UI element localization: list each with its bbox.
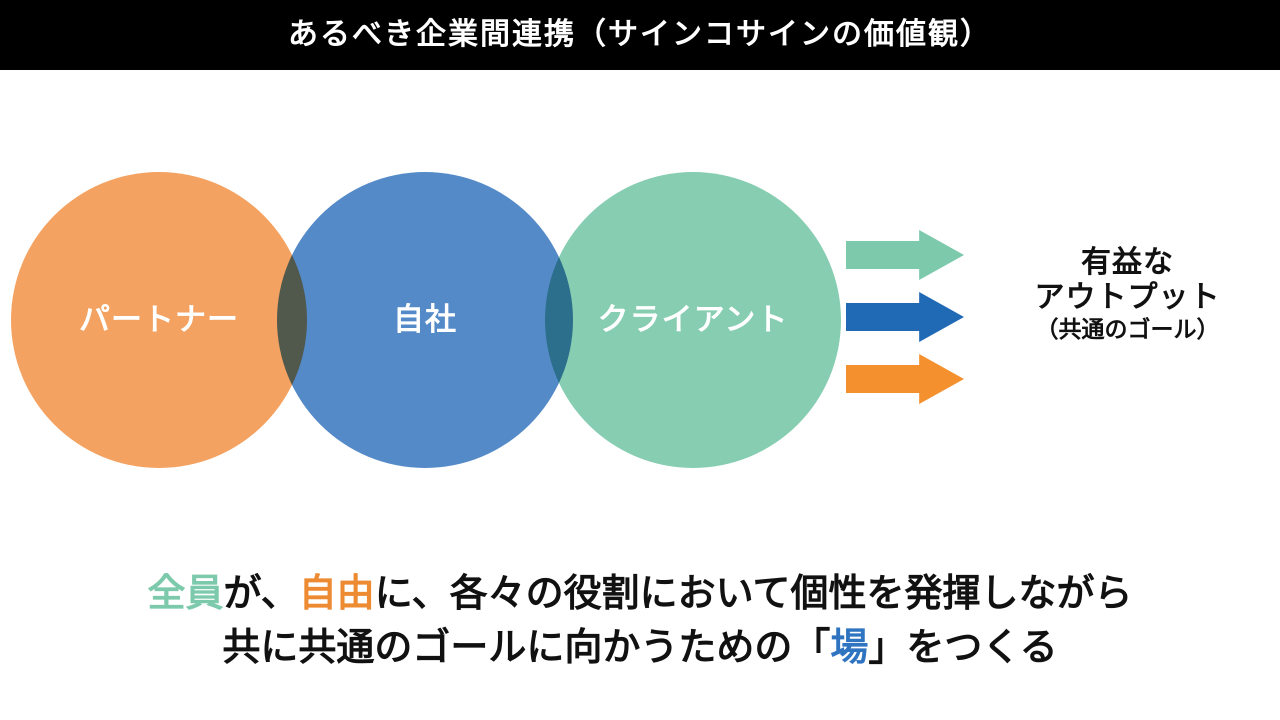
output-callout: 有益な アウトプット （共通のゴール） xyxy=(985,245,1270,343)
right-arrow-blue-icon xyxy=(846,292,964,342)
statement-line-1-part-2: が、 xyxy=(224,573,299,615)
statement-block: 全員が、自由に、各々の役割において個性を発揮しながら 共に共通のゴールに向かうた… xyxy=(0,568,1280,676)
slide-root: あるべき企業間連携（サインコサインの価値観） パートナー 自社 クライアント 有… xyxy=(0,0,1280,720)
venn-label-partner: パートナー xyxy=(11,298,307,342)
venn-diagram: パートナー 自社 クライアント xyxy=(0,70,900,540)
statement-line-2: 共に共通のゴールに向かうための「場」をつくる xyxy=(0,622,1280,676)
statement-highlight-jiyu: 自由 xyxy=(299,573,375,615)
page-title: あるべき企業間連携（サインコサインの価値観） xyxy=(288,20,992,50)
output-line-1: 有益な xyxy=(985,245,1270,280)
statement-line-1-part-4: に、各々の役割において個性を発揮しながら xyxy=(375,573,1133,615)
right-arrow-green-icon xyxy=(846,230,964,280)
venn-label-client: クライアント xyxy=(545,298,841,342)
statement-highlight-zenin: 全員 xyxy=(147,573,223,615)
arrow-group xyxy=(846,230,976,410)
statement-line-2-part-1: 共に共通のゴールに向かうための「 xyxy=(222,627,830,669)
right-arrow-orange-icon xyxy=(846,354,964,404)
output-line-2: アウトプット xyxy=(985,280,1270,315)
statement-highlight-ba: 場 xyxy=(830,627,868,669)
statement-line-2-part-3: 」をつくる xyxy=(868,627,1057,669)
output-line-3: （共通のゴール） xyxy=(985,316,1270,343)
statement-line-1: 全員が、自由に、各々の役割において個性を発揮しながら xyxy=(0,568,1280,622)
title-bar: あるべき企業間連携（サインコサインの価値観） xyxy=(0,0,1280,70)
venn-label-own-company: 自社 xyxy=(277,298,573,342)
